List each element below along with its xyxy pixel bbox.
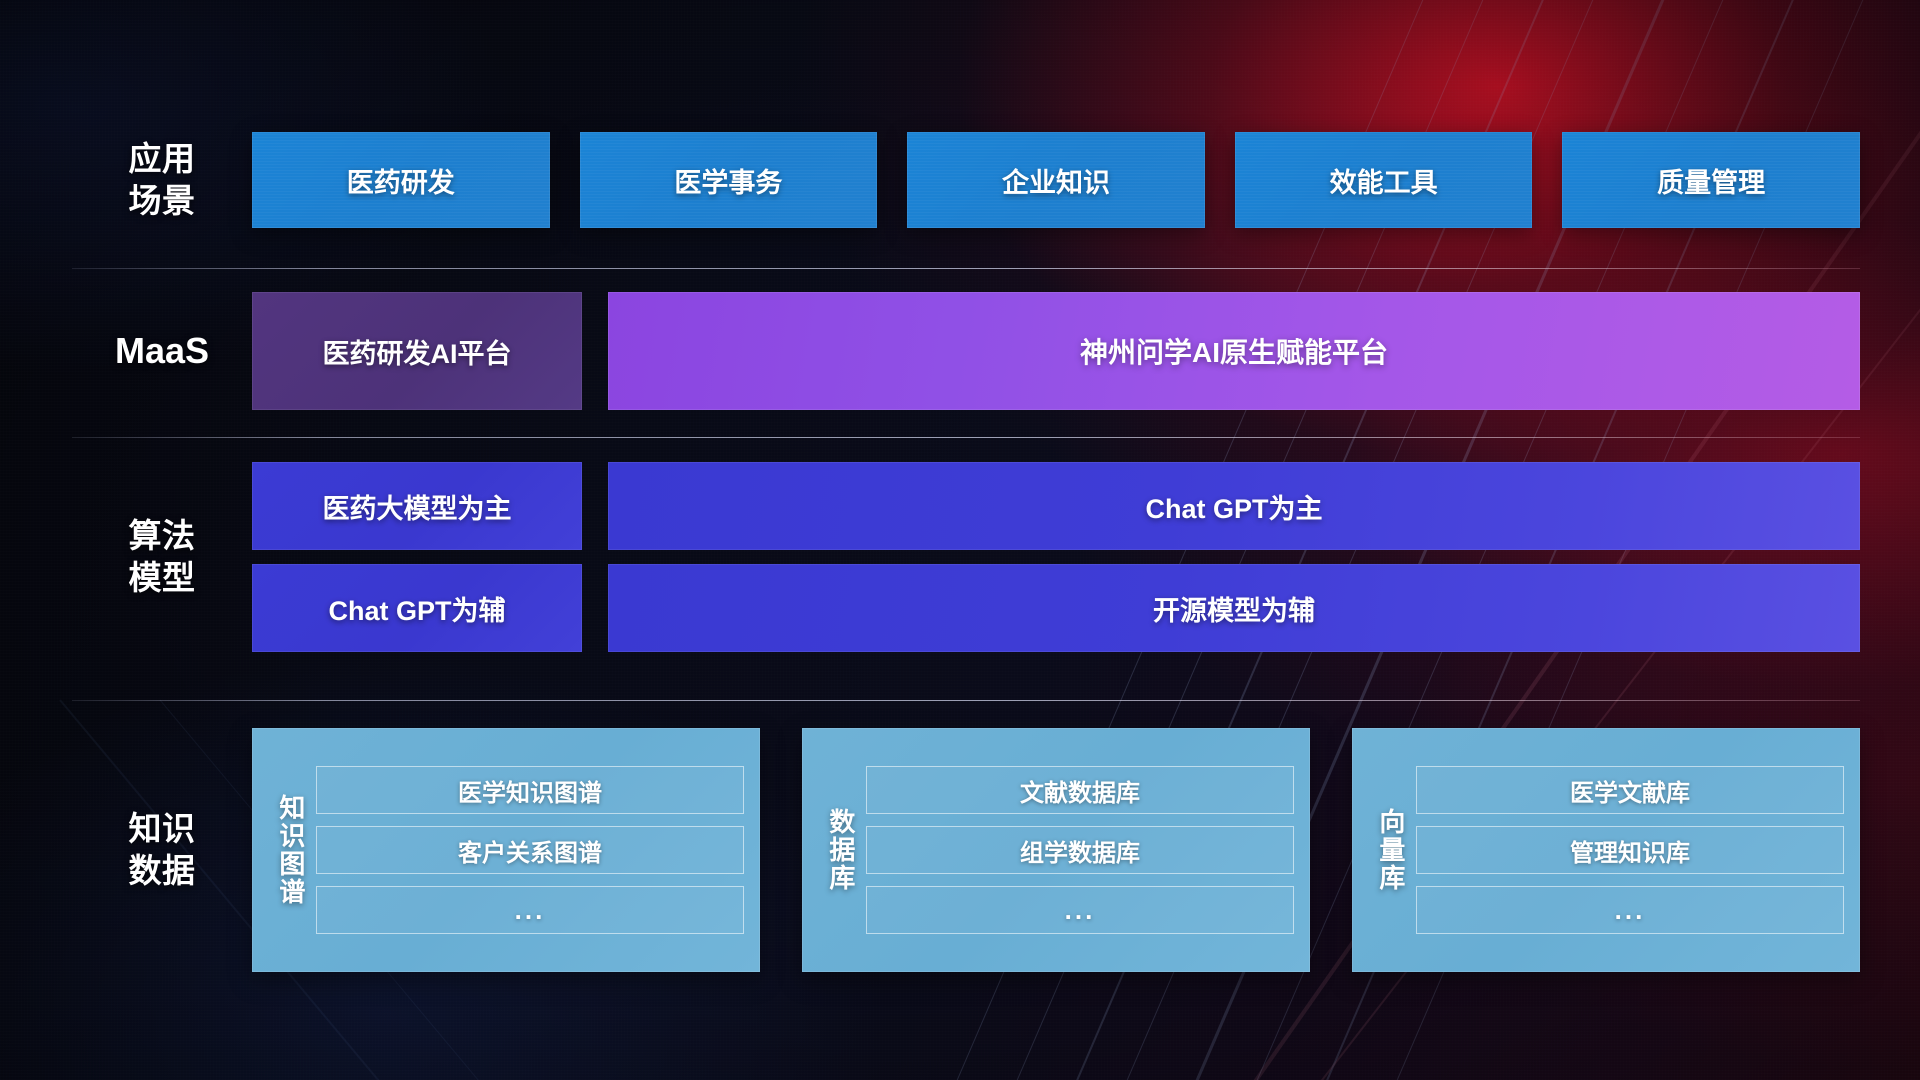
knowledge-item-label: 组学数据库 [1020, 833, 1140, 868]
knowledge-item[interactable]: 文献数据库 [866, 766, 1294, 814]
knowledge-item-label: 管理知识库 [1570, 833, 1690, 868]
algorithm-line-secondary: Chat GPT为辅 开源模型为辅 [252, 564, 1860, 652]
scenario-box-medical-affairs[interactable]: 医学事务 [580, 132, 878, 228]
knowledge-item-label: 医学文献库 [1570, 773, 1690, 808]
knowledge-item-more[interactable]: ... [866, 886, 1294, 934]
algorithm-left-label: Chat GPT为辅 [328, 589, 505, 628]
row-algorithm: 算法 模型 医药大模型为主 Chat GPT为主 Chat GPT为辅 开源模型… [72, 462, 1860, 652]
knowledge-card-database[interactable]: 数据库 文献数据库 组学数据库 ... [802, 728, 1310, 972]
algorithm-box-chatgpt-secondary[interactable]: Chat GPT为辅 [252, 564, 582, 652]
knowledge-item-label: 客户关系图谱 [458, 833, 602, 868]
maas-right-label: 神州问学AI原生赋能平台 [1080, 331, 1388, 371]
knowledge-card-title: 向量库 [1364, 742, 1416, 958]
knowledge-item-label: 文献数据库 [1020, 773, 1140, 808]
architecture-diagram: 应用 场景 医药研发 医学事务 企业知识 效能工具 质量管理 MaaS 医药研发… [0, 0, 1920, 1080]
row-knowledge: 知识 数据 知识图谱 医学知识图谱 客户关系图谱 ... 数据库 文献数据库 组… [72, 728, 1860, 972]
knowledge-card-knowledge-graph[interactable]: 知识图谱 医学知识图谱 客户关系图谱 ... [252, 728, 760, 972]
algorithm-box-medicine-llm-primary[interactable]: 医药大模型为主 [252, 462, 582, 550]
scenario-box-efficiency-tools[interactable]: 效能工具 [1235, 132, 1533, 228]
knowledge-item-list: 医学知识图谱 客户关系图谱 ... [316, 742, 744, 958]
knowledge-item-label: ... [1615, 895, 1646, 926]
maas-box-group: 医药研发AI平台 神州问学AI原生赋能平台 [252, 292, 1860, 410]
knowledge-item-label: 医学知识图谱 [458, 773, 602, 808]
divider-scenarios-maas [72, 268, 1860, 269]
divider-maas-algorithm [72, 437, 1860, 438]
scenario-box-group: 医药研发 医学事务 企业知识 效能工具 质量管理 [252, 132, 1860, 228]
scenario-box-medicine-rnd[interactable]: 医药研发 [252, 132, 550, 228]
knowledge-item[interactable]: 医学知识图谱 [316, 766, 744, 814]
algorithm-line-primary: 医药大模型为主 Chat GPT为主 [252, 462, 1860, 550]
scenario-label: 效能工具 [1330, 161, 1438, 200]
row-label-scenarios: 应用 场景 [72, 138, 252, 221]
maas-left-label: 医药研发AI平台 [323, 332, 512, 371]
algorithm-right-label: Chat GPT为主 [1145, 487, 1322, 526]
knowledge-item-label: ... [515, 895, 546, 926]
algorithm-box-chatgpt-primary[interactable]: Chat GPT为主 [608, 462, 1860, 550]
knowledge-item[interactable]: 管理知识库 [1416, 826, 1844, 874]
maas-box-shenzhou-wenxue-platform[interactable]: 神州问学AI原生赋能平台 [608, 292, 1860, 410]
row-label-maas: MaaS [72, 328, 252, 373]
knowledge-item[interactable]: 医学文献库 [1416, 766, 1844, 814]
knowledge-card-vector-store[interactable]: 向量库 医学文献库 管理知识库 ... [1352, 728, 1860, 972]
knowledge-card-title: 知识图谱 [264, 742, 316, 958]
row-scenarios: 应用 场景 医药研发 医学事务 企业知识 效能工具 质量管理 [72, 110, 1860, 250]
knowledge-card-group: 知识图谱 医学知识图谱 客户关系图谱 ... 数据库 文献数据库 组学数据库 .… [252, 728, 1860, 972]
scenario-label: 质量管理 [1657, 161, 1765, 200]
algorithm-box-group: 医药大模型为主 Chat GPT为主 Chat GPT为辅 开源模型为辅 [252, 462, 1860, 652]
divider-algorithm-knowledge [72, 700, 1860, 701]
row-label-knowledge: 知识 数据 [72, 728, 252, 972]
algorithm-box-opensource-secondary[interactable]: 开源模型为辅 [608, 564, 1860, 652]
row-label-algorithm: 算法 模型 [72, 515, 252, 598]
knowledge-item-more[interactable]: ... [316, 886, 744, 934]
scenario-box-enterprise-knowledge[interactable]: 企业知识 [907, 132, 1205, 228]
scenario-label: 医学事务 [674, 161, 782, 200]
knowledge-item[interactable]: 组学数据库 [866, 826, 1294, 874]
row-maas: MaaS 医药研发AI平台 神州问学AI原生赋能平台 [72, 292, 1860, 410]
algorithm-left-label: 医药大模型为主 [323, 487, 512, 526]
scenario-label: 医药研发 [347, 161, 455, 200]
knowledge-item-more[interactable]: ... [1416, 886, 1844, 934]
maas-box-medicine-ai-platform[interactable]: 医药研发AI平台 [252, 292, 582, 410]
knowledge-item-list: 文献数据库 组学数据库 ... [866, 742, 1294, 958]
knowledge-item-label: ... [1065, 895, 1096, 926]
knowledge-item-list: 医学文献库 管理知识库 ... [1416, 742, 1844, 958]
scenario-label: 企业知识 [1002, 161, 1110, 200]
knowledge-card-title: 数据库 [814, 742, 866, 958]
algorithm-right-label: 开源模型为辅 [1153, 589, 1315, 628]
scenario-box-quality-management[interactable]: 质量管理 [1562, 132, 1860, 228]
knowledge-item[interactable]: 客户关系图谱 [316, 826, 744, 874]
